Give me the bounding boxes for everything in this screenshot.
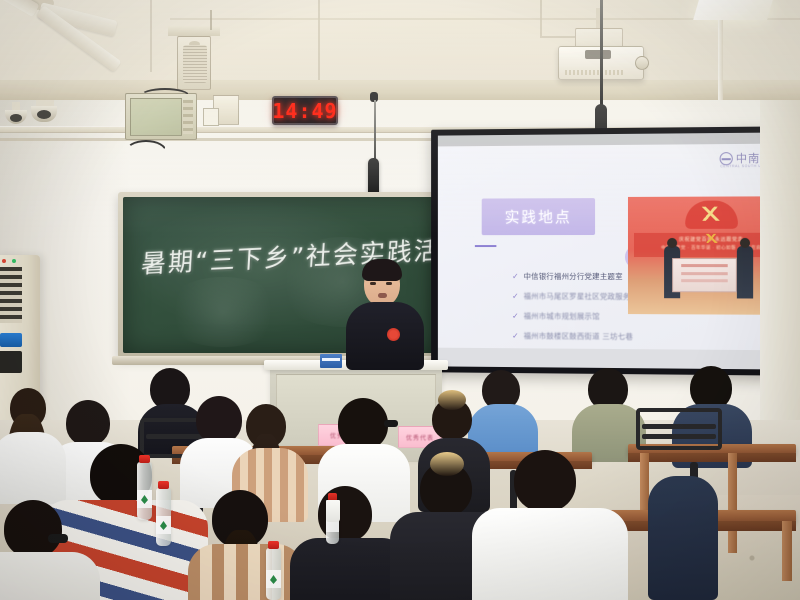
- list-item: ✓ 福州市鼓楼区鼓西街道 三坊七巷: [512, 330, 651, 342]
- check-icon: ✓: [512, 272, 519, 280]
- party-emblem-small-icon: [705, 234, 717, 243]
- desk-leg: [728, 453, 737, 553]
- clock-time: 14:49: [272, 99, 337, 123]
- check-icon: ✓: [512, 312, 519, 320]
- ceiling-seam: [150, 0, 152, 72]
- projection-screen: 中南大学 CENTRAL SOUTH UNIVERSITY 实践地点 ✓ 中信银…: [431, 126, 800, 376]
- right-wall: [760, 100, 800, 440]
- ceiling-seam: [318, 0, 320, 82]
- bullet-text: 福州市城市规划展示馆: [524, 311, 600, 322]
- water-bottle: [156, 488, 171, 546]
- desk-front: [628, 453, 796, 462]
- wall-speaker: [177, 36, 211, 90]
- desk-leg: [782, 521, 792, 581]
- paper-cup: [326, 500, 340, 522]
- speaker-shelf: [168, 26, 220, 36]
- slide-divider: [475, 245, 497, 247]
- soffit-band: [0, 80, 800, 102]
- projector-cable: [585, 50, 611, 59]
- university-emblem-icon: [720, 152, 733, 165]
- led-clock: 14:49: [272, 96, 338, 125]
- party-emblem-icon: [685, 201, 738, 229]
- control-panel[interactable]: [125, 93, 197, 140]
- check-icon: ✓: [512, 332, 519, 340]
- photo-person-right: [737, 246, 753, 299]
- water-bottle: [137, 462, 152, 520]
- wall-jack[interactable]: [203, 108, 219, 126]
- presentation-slide: 中南大学 CENTRAL SOUTH UNIVERSITY 实践地点 ✓ 中信银…: [438, 144, 795, 351]
- bullet-text: 福州市鼓楼区鼓西街道 三坊七巷: [524, 330, 634, 342]
- slide-title-chip: 实践地点: [482, 198, 595, 235]
- slide-bullet-list: ✓ 中信银行福州分行党建主题室 ✓ 福州市马尾区罗星社区党政服务中心 ✓ 福州市…: [473, 271, 651, 351]
- photo-certificate: [672, 258, 737, 292]
- blue-box: [320, 354, 342, 368]
- desk-sign-text: 优秀代表: [406, 433, 434, 442]
- speaker-bracket: [210, 10, 212, 30]
- slide-title: 实践地点: [505, 206, 572, 227]
- water-bottle: [266, 548, 281, 600]
- bullet-text: 中信银行福州分行党建主题室: [524, 271, 623, 282]
- chair-back: [636, 408, 722, 450]
- classroom-scene: 14:49 暑期“三下乡”社会实践活动 中南大学 CENTRAL SOUTH U…: [0, 0, 800, 600]
- check-icon: ✓: [512, 292, 519, 300]
